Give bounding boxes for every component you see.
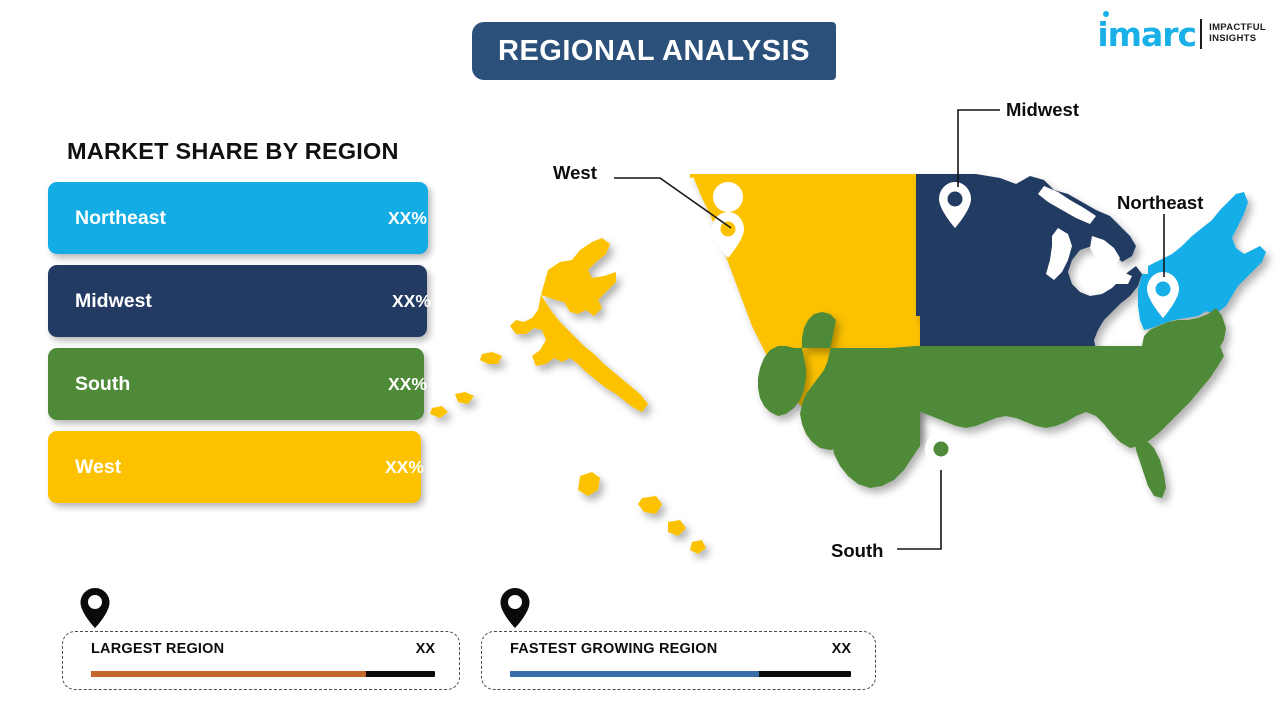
leader-line-south <box>897 470 941 549</box>
callout-label-midwest: Midwest <box>1006 99 1079 121</box>
stat-row: FASTEST GROWING REGION XX <box>482 632 875 657</box>
stat-progress-track <box>91 671 435 677</box>
location-pin-icon <box>78 586 112 630</box>
callout-label-south: South <box>831 540 883 562</box>
fastest-growing-region-stat[interactable]: FASTEST GROWING REGION XX <box>481 631 876 690</box>
callout-leader-lines <box>0 0 1280 720</box>
leader-line-west <box>614 178 731 228</box>
callout-label-northeast: Northeast <box>1117 192 1203 214</box>
largest-region-stat[interactable]: LARGEST REGION XX <box>62 631 460 690</box>
stat-row: LARGEST REGION XX <box>63 632 459 657</box>
stat-progress-fill <box>510 671 759 677</box>
stat-value: XX <box>416 641 435 657</box>
callout-label-west: West <box>553 162 597 184</box>
stat-progress-track <box>510 671 851 677</box>
slide-canvas: REGIONAL ANALYSIS imarc IMPACTFUL INSIGH… <box>0 0 1280 720</box>
location-pin-icon <box>498 586 532 630</box>
leader-line-midwest <box>958 110 1000 187</box>
stat-progress-fill <box>91 671 366 677</box>
stat-value: XX <box>832 641 851 657</box>
stat-label: LARGEST REGION <box>91 641 224 657</box>
stat-label: FASTEST GROWING REGION <box>510 641 717 657</box>
